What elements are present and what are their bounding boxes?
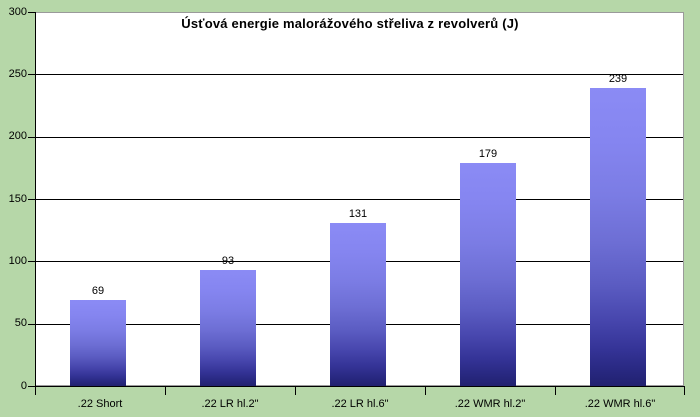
y-tick-label: 0: [0, 381, 27, 392]
y-tick-label: 100: [0, 256, 27, 267]
x-tick-boundary: [555, 386, 556, 395]
chart-container: 69 93 131 179 239 300 250 200 150 100 50…: [0, 0, 700, 417]
y-tick-300: [28, 12, 36, 13]
bar-22-short[interactable]: [70, 300, 126, 386]
x-tick-label: .22 WMR hl.2": [425, 398, 555, 410]
x-tick-boundary: [425, 386, 426, 395]
bar-value-label: 93: [200, 256, 256, 267]
x-axis-line: [35, 386, 684, 387]
bar-22-lr-hl6[interactable]: [330, 223, 386, 386]
bar-value-label: 131: [330, 209, 386, 220]
y-tick-150: [28, 199, 36, 200]
gridline-200: [36, 137, 683, 138]
x-tick-label: .22 Short: [35, 398, 165, 410]
x-tick-boundary: [295, 386, 296, 395]
x-tick-label: .22 WMR hl.6": [555, 398, 685, 410]
y-tick-50: [28, 324, 36, 325]
x-tick-label: .22 LR hl.6": [295, 398, 425, 410]
bar-22-wmr-hl6[interactable]: [590, 88, 646, 386]
bar-value-label: 179: [460, 149, 516, 160]
y-tick-label: 50: [0, 318, 27, 329]
bar-value-label: 69: [70, 286, 126, 297]
y-tick-100: [28, 261, 36, 262]
x-tick-boundary: [684, 386, 685, 395]
bar-22-lr-hl2[interactable]: [200, 270, 256, 386]
y-tick-label: 200: [0, 131, 27, 142]
gridline-250: [36, 74, 683, 75]
y-tick-200: [28, 137, 36, 138]
x-tick-boundary: [165, 386, 166, 395]
y-tick-250: [28, 74, 36, 75]
y-tick-label: 150: [0, 194, 27, 205]
chart-title: Úsťová energie malorážového střeliva z r…: [0, 16, 700, 31]
gridline-150: [36, 199, 683, 200]
x-tick-label: .22 LR hl.2": [165, 398, 295, 410]
x-tick-boundary: [35, 386, 36, 395]
bar-value-label: 239: [590, 74, 646, 85]
y-tick-label: 250: [0, 69, 27, 80]
bar-22-wmr-hl2[interactable]: [460, 163, 516, 386]
